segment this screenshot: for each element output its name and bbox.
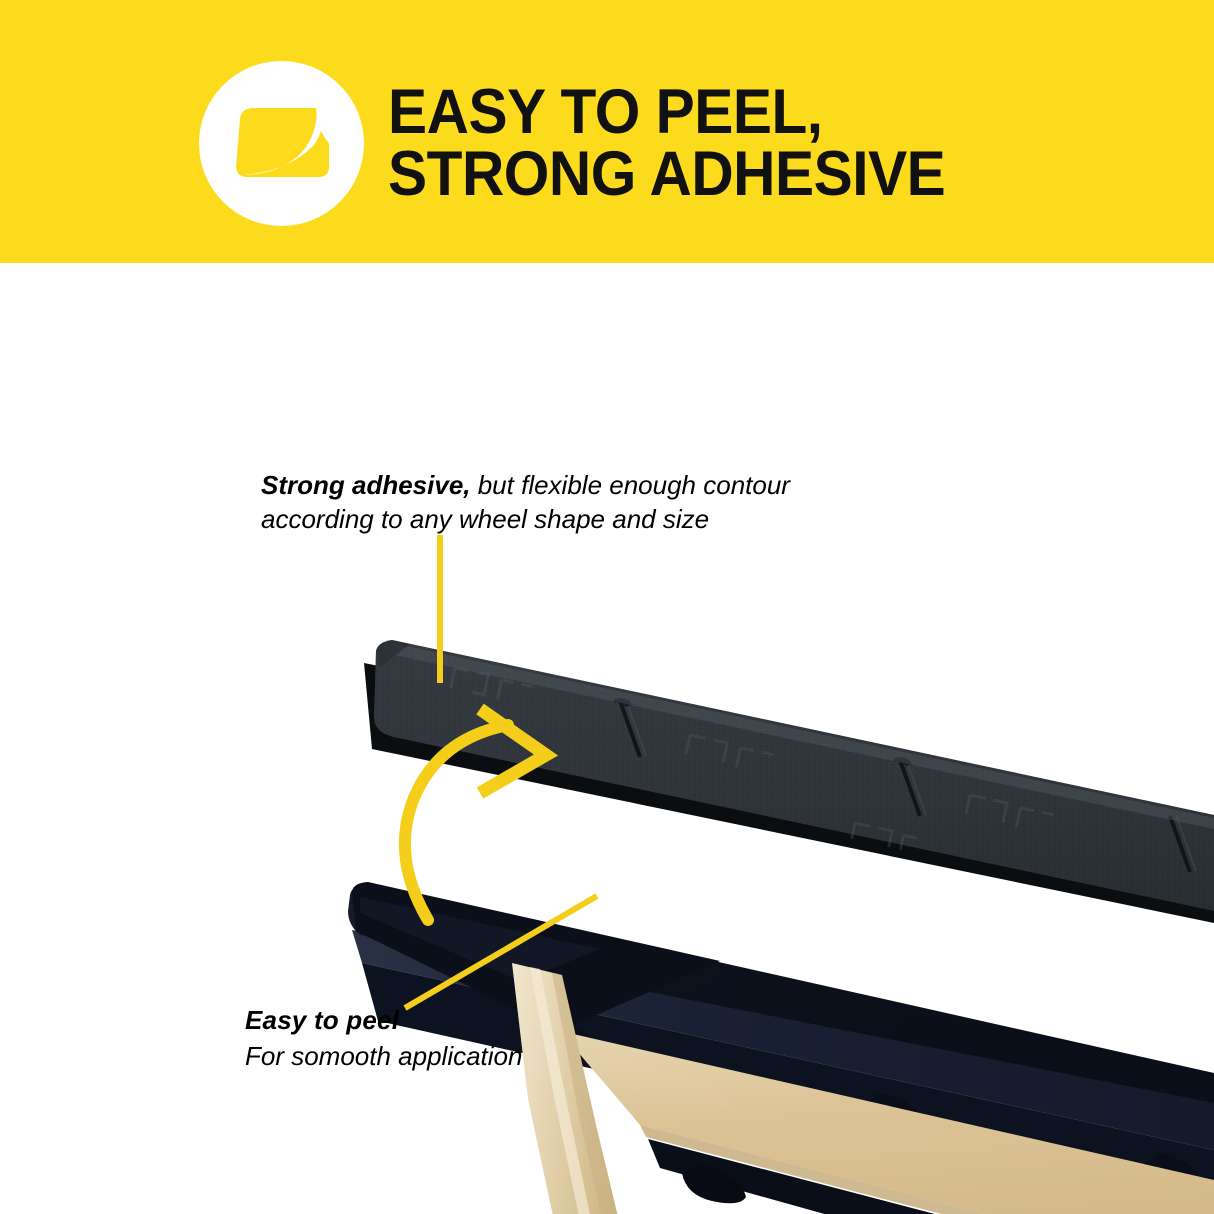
- callout-strong-adhesive: Strong adhesive, but flexible enough con…: [261, 468, 901, 537]
- callout-strong-adhesive-lead: Strong adhesive,: [261, 470, 471, 500]
- page-title: EASY TO PEEL, STRONG ADHESIVE: [388, 82, 1132, 205]
- callout-easy-to-peel: Easy to peel For somooth application: [245, 1005, 665, 1074]
- callout-easy-to-peel-lead: Easy to peel: [245, 1005, 665, 1037]
- callout-easy-to-peel-sub: For somooth application: [245, 1039, 665, 1074]
- brand-logo: [199, 61, 364, 226]
- header-banner: EASY TO PEEL, STRONG ADHESIVE: [0, 0, 1214, 263]
- peeling-sticker-logo-icon: [199, 61, 364, 226]
- infographic-page: EASY TO PEEL, STRONG ADHESIVE: [0, 0, 1214, 1214]
